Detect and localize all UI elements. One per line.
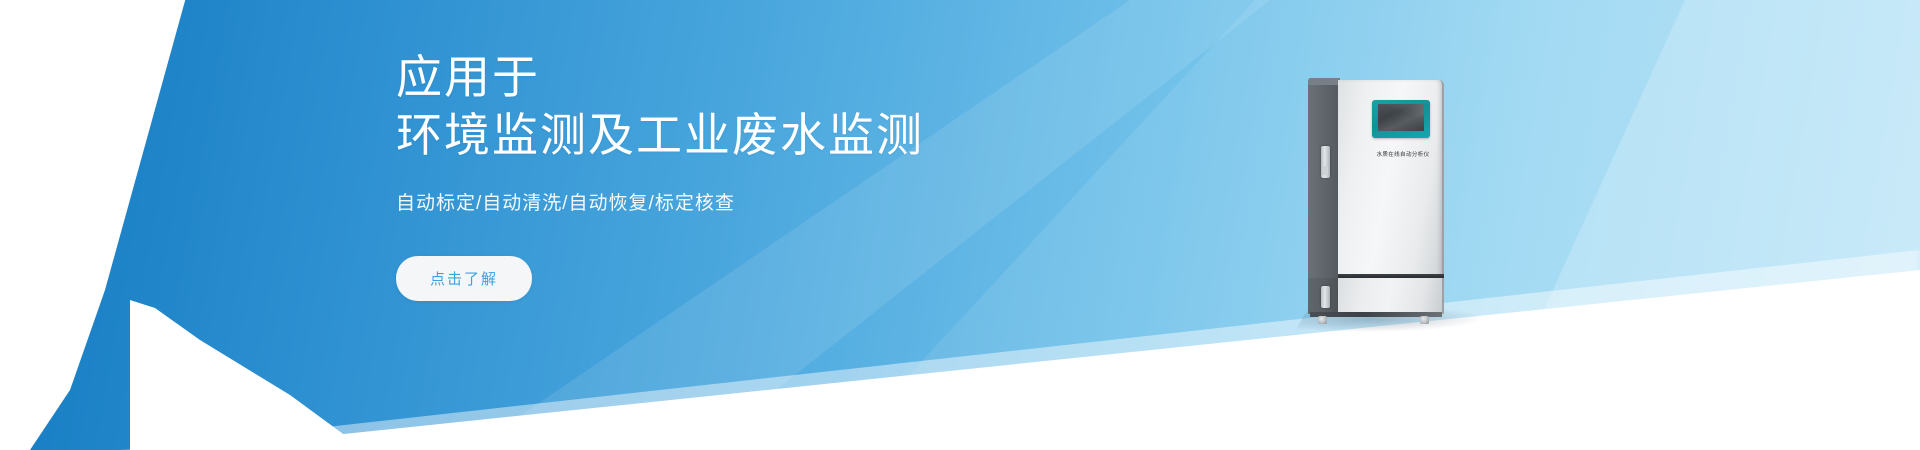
device-caster-right	[1420, 316, 1429, 324]
device-top-edge	[1308, 78, 1340, 85]
hero-copy: 应用于 环境监测及工业废水监测 自动标定/自动清洗/自动恢复/标定核查 点击了解	[396, 48, 1156, 301]
device-handle-upper	[1321, 146, 1330, 178]
hero-subtitle: 自动标定/自动清洗/自动恢复/标定核查	[396, 190, 1156, 218]
page-title: 应用于 环境监测及工业废水监测	[396, 48, 1156, 164]
device-lower-cabinet	[1338, 278, 1444, 314]
headline-line-2: 环境监测及工业废水监测	[396, 106, 1156, 164]
device-model-label: 水质在线自动分析仪	[1364, 151, 1442, 159]
device-handle-lower	[1321, 286, 1330, 308]
device-caster-left	[1318, 316, 1327, 324]
device-screen-glare	[1378, 104, 1424, 131]
headline-line-1: 应用于	[396, 51, 540, 103]
product-image-water-quality-analyzer: 水质在线自动分析仪	[1308, 78, 1444, 318]
learn-more-button[interactable]: 点击了解	[396, 256, 532, 301]
hero-banner: 应用于 环境监测及工业废水监测 自动标定/自动清洗/自动恢复/标定核查 点击了解…	[0, 0, 1920, 450]
